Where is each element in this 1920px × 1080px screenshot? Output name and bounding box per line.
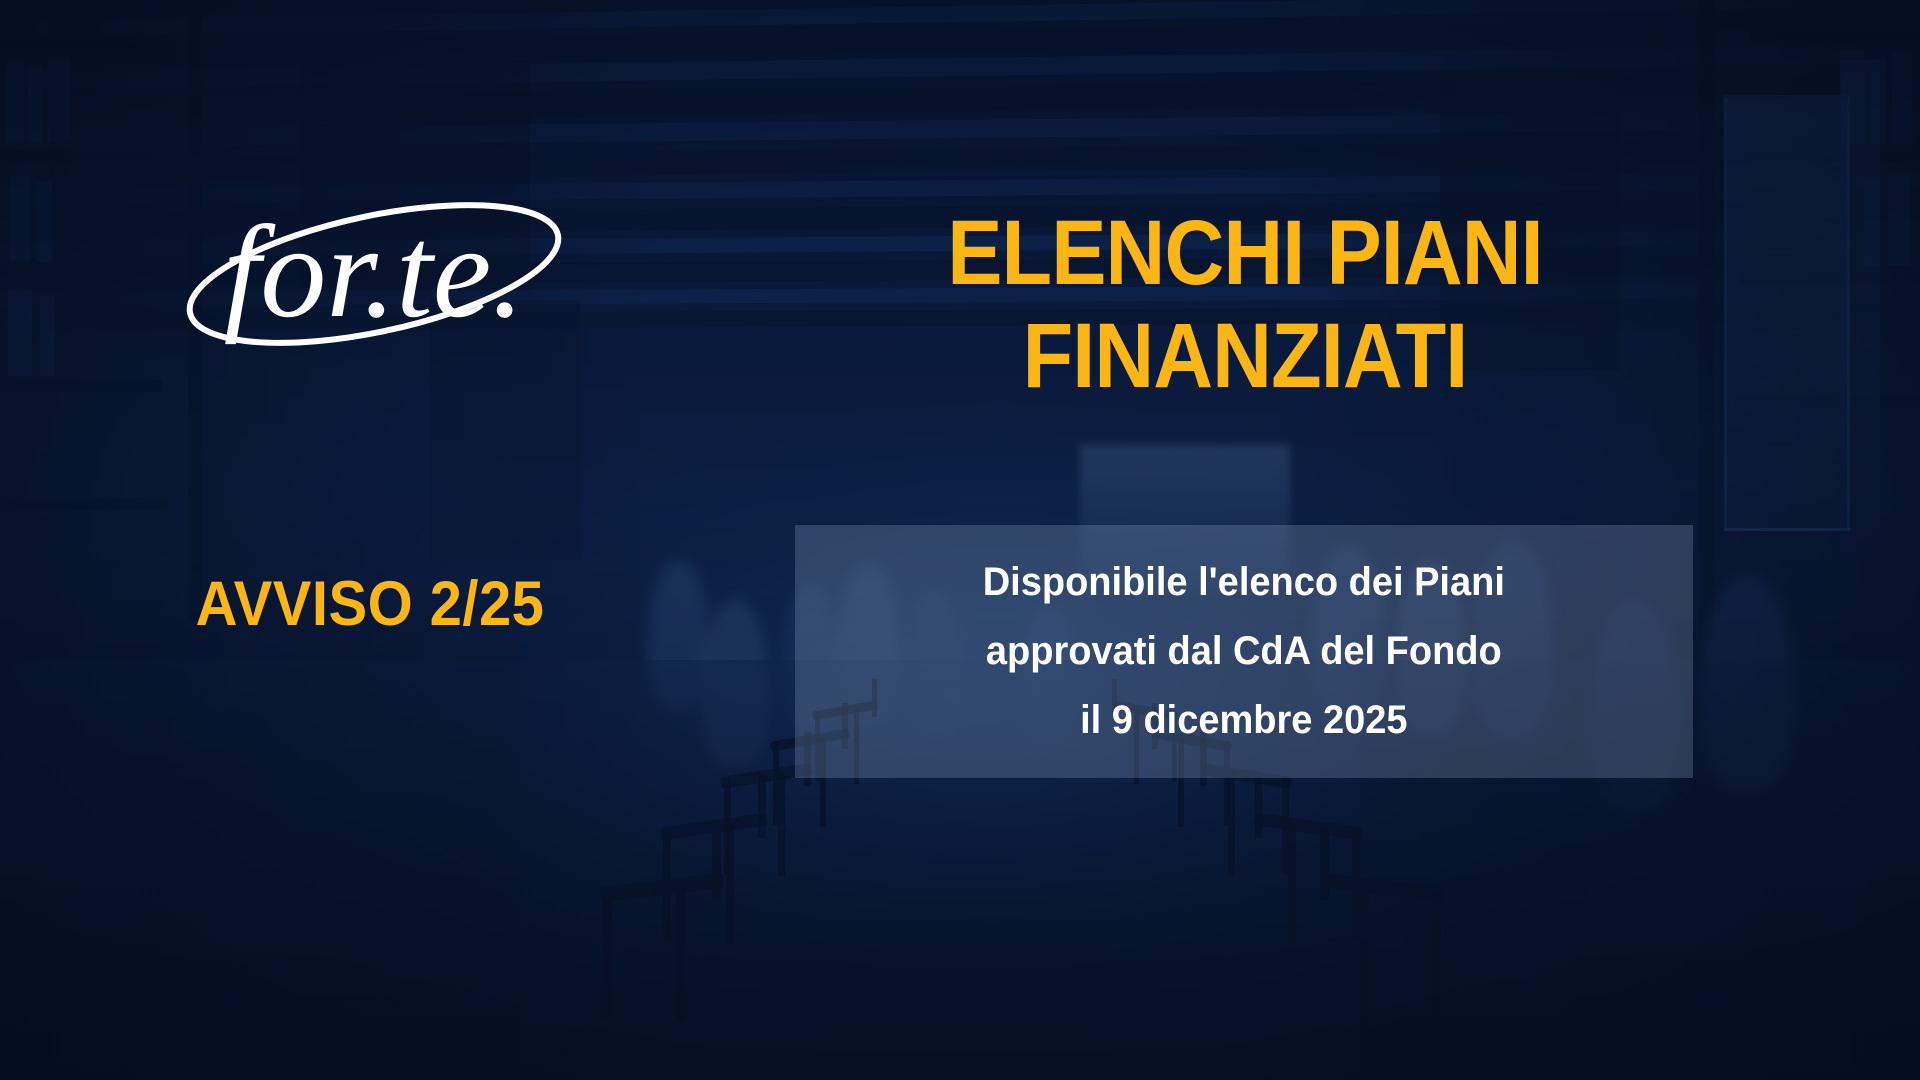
subtitle-panel: Disponibile l'elenco dei Piani approvati… [795,525,1693,778]
subtitle-line-3: il 9 dicembre 2025 [983,686,1505,755]
logo-wordmark: for.te. [224,198,525,345]
promo-banner: for.te. AVVISO 2/25 ELENCHI PIANI FINANZ… [0,0,1920,1080]
subtitle-line-1: Disponibile l'elenco dei Piani [983,548,1505,617]
subtitle-text: Disponibile l'elenco dei Piani approvati… [969,548,1519,754]
page-title: ELENCHI PIANI FINANZIATI [770,202,1720,408]
forte-logo: for.te. [178,178,568,368]
notice-label: AVVISO 2/25 [85,568,655,640]
subtitle-line-2: approvati dal CdA del Fondo [983,617,1505,686]
headline-line-2: FINANZIATI [818,305,1673,408]
headline-line-1: ELENCHI PIANI [818,202,1673,305]
